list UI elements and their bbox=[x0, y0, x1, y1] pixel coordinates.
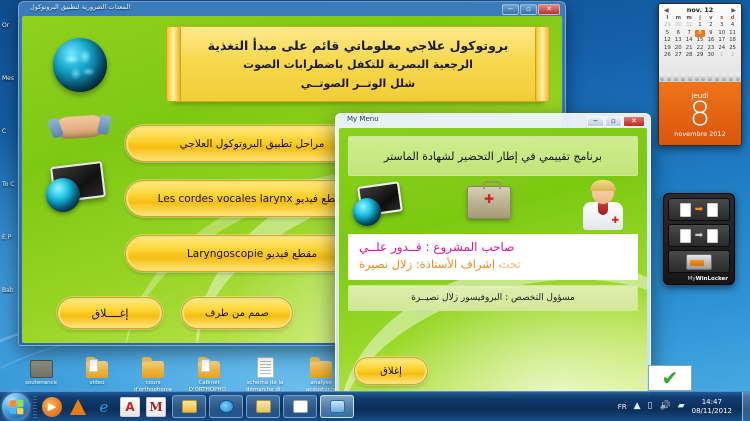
calendar-day-header: s bbox=[716, 15, 727, 22]
page-icon bbox=[680, 203, 691, 217]
page-icon bbox=[707, 229, 718, 243]
calendar-gadget[interactable]: ◀ nov. 12 ▶ lmmjvsd293031123456789101112… bbox=[658, 3, 742, 146]
department-head-text: مسؤول التخصص : البروفيسور زلال نصيــرة bbox=[411, 293, 575, 303]
calendar-nav: ◀ nov. 12 ▶ bbox=[662, 6, 738, 14]
winlocker-gadget[interactable]: ➡ ➡ MyWinLocker bbox=[663, 193, 735, 285]
winlocker-encrypt-button[interactable]: ➡ bbox=[668, 198, 730, 221]
calendar-day-header: m bbox=[684, 15, 695, 22]
clock-date: 08/11/2012 bbox=[692, 407, 732, 416]
document-icon bbox=[242, 352, 288, 378]
calendar-day-cell[interactable]: 31 bbox=[684, 22, 695, 29]
calendar-day-cell[interactable]: 18 bbox=[727, 37, 738, 44]
calendar-day-cell[interactable]: 24 bbox=[716, 45, 727, 52]
credit-owner: صاحب المشروع : قــدور علــي bbox=[359, 239, 627, 256]
green-check-overlay[interactable]: ✔ bbox=[648, 365, 692, 391]
calendar-month-view: ◀ nov. 12 ▶ lmmjvsd293031123456789101112… bbox=[659, 4, 741, 72]
calendar-day-header: d bbox=[727, 15, 738, 22]
calendar-day-cell[interactable]: 26 bbox=[662, 52, 673, 59]
calendar-day-cell[interactable]: 9 bbox=[705, 30, 716, 37]
calendar-day-cell[interactable]: 5 bbox=[662, 30, 673, 37]
dialog-header-panel: برنامج تقييمي في إطار التحضير لشهادة الم… bbox=[348, 136, 638, 176]
calendar-day-cell[interactable]: 23 bbox=[705, 45, 716, 52]
calendar-day-header: v bbox=[705, 15, 716, 22]
calendar-day-cell[interactable]: 29 bbox=[695, 52, 706, 59]
calendar-day-cell[interactable]: 21 bbox=[684, 45, 695, 52]
dialog-title: My Menu bbox=[347, 115, 379, 123]
calendar-day-cell[interactable]: 29 bbox=[662, 22, 673, 29]
calendar-day-cell[interactable]: 1 bbox=[716, 52, 727, 59]
folder-icon bbox=[74, 352, 120, 378]
calendar-day-cell[interactable]: 19 bbox=[662, 45, 673, 52]
calendar-day-cell[interactable]: 17 bbox=[716, 37, 727, 44]
calendar-day-header: m bbox=[673, 15, 684, 22]
my-menu-dialog[interactable]: My Menu − ▫ ✕ برنامج تقييمي في إطار التح… bbox=[335, 113, 651, 398]
taskbar-divider bbox=[33, 396, 37, 418]
desktop-icon-soutenance[interactable]: soutenance bbox=[18, 352, 64, 394]
folder-icon bbox=[186, 352, 232, 378]
blue-orb-icon bbox=[353, 198, 381, 226]
show-desktop-button[interactable] bbox=[742, 392, 750, 421]
calendar-day-cell[interactable]: 10 bbox=[716, 30, 727, 37]
taskbar-window-document[interactable] bbox=[283, 395, 317, 418]
network-icon[interactable]: ▰ bbox=[678, 402, 685, 411]
close-button[interactable]: ✕ bbox=[538, 4, 560, 15]
winlocker-decrypt-button[interactable]: ➡ bbox=[668, 224, 730, 247]
folder-icon bbox=[130, 352, 176, 378]
main-window-title: المعدات الضرورية لتطبيق البروتوكول bbox=[30, 3, 130, 11]
quick-launch-bar: ▶ e A M bbox=[40, 397, 166, 417]
globe-icon bbox=[53, 38, 107, 92]
main-close-button[interactable]: إغــــلاق bbox=[58, 298, 162, 328]
desktop-icon-video[interactable]: video bbox=[74, 352, 120, 394]
calendar-today-panel: jeudi 8 novembre 2012 bbox=[659, 82, 741, 146]
calendar-day-cell[interactable]: 22 bbox=[695, 45, 706, 52]
calendar-day-cell[interactable]: 1 bbox=[695, 22, 706, 29]
calendar-day-cell[interactable]: 8 bbox=[695, 30, 706, 37]
volume-icon[interactable]: 🔊 bbox=[660, 402, 671, 411]
designed-by-button[interactable]: صمم من طرف bbox=[182, 298, 292, 328]
dialog-close-action-button[interactable]: إغلاق bbox=[355, 358, 427, 384]
taskbar-window-app[interactable] bbox=[320, 395, 354, 418]
banner-line-1: بروتوكول علاجي معلوماتي قائم على مبدأ ال… bbox=[208, 36, 509, 55]
ati-overlay-label: ati bbox=[638, 377, 646, 384]
mathtype-icon[interactable]: M bbox=[146, 397, 166, 417]
winlocker-label-main: WinLocker bbox=[696, 276, 728, 282]
dialog-window-controls: − ▫ ✕ bbox=[587, 116, 645, 127]
vlc-icon[interactable] bbox=[68, 397, 88, 417]
window-icon bbox=[256, 400, 271, 413]
battery-icon[interactable]: ▯ bbox=[648, 402, 653, 411]
dialog-body: برنامج تقييمي في إطار التحضير لشهادة الم… bbox=[339, 128, 647, 394]
dialog-titlebar[interactable]: My Menu − ▫ ✕ bbox=[339, 114, 647, 128]
medical-briefcase-icon bbox=[467, 186, 511, 219]
paint-icon bbox=[219, 400, 234, 413]
language-indicator[interactable]: FR bbox=[618, 403, 627, 411]
taskbar[interactable]: ▶ e A M FR ▲ ▯ 🔊 ▰ 14:47 08/11/2012 bbox=[0, 391, 750, 421]
handshake-icon bbox=[55, 114, 104, 139]
calendar-day-cell[interactable]: 4 bbox=[727, 22, 738, 29]
calendar-day-header: l bbox=[662, 15, 673, 22]
blue-orb-icon bbox=[46, 178, 80, 212]
calendar-day-cell[interactable]: 2 bbox=[705, 22, 716, 29]
calendar-day-cell[interactable]: 25 bbox=[727, 45, 738, 52]
app-icon bbox=[330, 400, 345, 413]
taskbar-window-folder[interactable] bbox=[172, 395, 206, 418]
clock[interactable]: 14:47 08/11/2012 bbox=[692, 398, 732, 416]
prev-month-icon[interactable]: ◀ bbox=[664, 7, 669, 14]
clock-time: 14:47 bbox=[692, 398, 732, 407]
calendar-day-cell[interactable]: 30 bbox=[705, 52, 716, 59]
desktop-icon-schema-demarche[interactable]: schéma de la démarche di.. bbox=[242, 352, 288, 394]
dialog-header-text: برنامج تقييمي في إطار التحضير لشهادة الم… bbox=[384, 150, 602, 163]
doctor-avatar-icon: ✚ bbox=[583, 180, 623, 230]
calendar-day-cell[interactable]: 7 bbox=[684, 30, 695, 37]
gray-file-icon bbox=[18, 352, 64, 378]
main-window-titlebar[interactable]: المعدات الضرورية لتطبيق البروتوكول − ▫ ✕ bbox=[22, 2, 562, 16]
calendar-grid[interactable]: lmmjvsd293031123456789101112131415161718… bbox=[662, 15, 738, 59]
calendar-day-cell[interactable]: 30 bbox=[673, 22, 684, 29]
calendar-day-cell[interactable]: 12 bbox=[662, 37, 673, 44]
start-button[interactable] bbox=[2, 393, 30, 421]
calendar-day-cell[interactable]: 2 bbox=[727, 52, 738, 59]
document-icon bbox=[293, 400, 308, 413]
arrow-right-icon: ➡ bbox=[695, 231, 703, 241]
winlocker-label-prefix: My bbox=[688, 276, 696, 282]
calendar-day-cell[interactable]: 28 bbox=[684, 52, 695, 59]
dialog-maximize-button[interactable]: ▫ bbox=[605, 116, 622, 127]
desktop: Or Mes C To C E.P Bab soutenance video c… bbox=[0, 0, 750, 421]
department-head-panel: مسؤول التخصص : البروفيسور زلال نصيــرة bbox=[348, 285, 638, 311]
folder-icon bbox=[182, 400, 197, 413]
system-tray: FR ▲ ▯ 🔊 ▰ 14:47 08/11/2012 bbox=[618, 398, 738, 416]
desktop-icon-label: soutenance bbox=[18, 380, 64, 387]
chevron-up-icon[interactable]: ▲ bbox=[634, 402, 641, 411]
calendar-day-cell[interactable]: 27 bbox=[673, 52, 684, 59]
internet-explorer-icon[interactable]: e bbox=[94, 397, 114, 417]
calendar-day-cell[interactable]: 11 bbox=[727, 30, 738, 37]
minimize-button[interactable]: − bbox=[502, 4, 519, 15]
windows-logo-icon bbox=[10, 399, 24, 414]
calendar-day-header: j bbox=[695, 15, 706, 22]
taskbar-window-explorer[interactable] bbox=[246, 395, 280, 418]
calendar-day-cell[interactable]: 15 bbox=[695, 37, 706, 44]
calendar-day-number: 8 bbox=[690, 97, 711, 131]
calendar-day-cell[interactable]: 3 bbox=[716, 22, 727, 29]
dialog-close-button[interactable]: ✕ bbox=[623, 116, 645, 127]
calendar-day-cell[interactable]: 14 bbox=[684, 37, 695, 44]
main-window-controls: − ▫ ✕ bbox=[502, 4, 560, 15]
media-player-icon[interactable]: ▶ bbox=[42, 397, 62, 417]
taskbar-window-buttons bbox=[172, 395, 354, 418]
banner-line-3: شلل الوتــر الصوتــي bbox=[301, 74, 416, 93]
calendar-month-label: nov. 12 bbox=[687, 6, 714, 14]
locked-page-icon bbox=[680, 229, 691, 243]
winlocker-label: MyWinLocker bbox=[668, 276, 730, 282]
safe-icon bbox=[686, 254, 712, 270]
calendar-day-cell[interactable]: 6 bbox=[673, 30, 684, 37]
calendar-spiral-binding bbox=[659, 72, 741, 82]
desktop-icon-label: video bbox=[74, 380, 120, 387]
taskbar-window-paint[interactable] bbox=[209, 395, 243, 418]
calendar-month-year: novembre 2012 bbox=[674, 130, 726, 138]
title-scroll-banner: بروتوكول علاجي معلوماتي قائم على مبدأ ال… bbox=[172, 26, 544, 102]
locked-page-icon bbox=[707, 203, 718, 217]
arrow-right-icon: ➡ bbox=[695, 205, 703, 215]
adobe-reader-icon[interactable]: A bbox=[120, 397, 140, 417]
calendar-day-cell[interactable]: 16 bbox=[705, 37, 716, 44]
banner-line-2: الرجعية البصرية للتكفل باضطرابات الصوت bbox=[243, 55, 473, 74]
desktop-icon-cabinet-orthophonie[interactable]: Cabinet D'ORTHOPHO.. bbox=[186, 352, 232, 394]
winlocker-safe-button[interactable] bbox=[668, 250, 730, 273]
calendar-day-cell[interactable]: 20 bbox=[673, 45, 684, 52]
dialog-icon-strip: ✚ bbox=[345, 180, 641, 232]
next-month-icon[interactable]: ▶ bbox=[731, 7, 736, 14]
calendar-day-cell[interactable]: 13 bbox=[673, 37, 684, 44]
desktop-icon-cours-orthophonie[interactable]: cours d'orthophonie bbox=[130, 352, 176, 394]
maximize-button[interactable]: ▫ bbox=[520, 4, 537, 15]
dialog-minimize-button[interactable]: − bbox=[587, 116, 604, 127]
